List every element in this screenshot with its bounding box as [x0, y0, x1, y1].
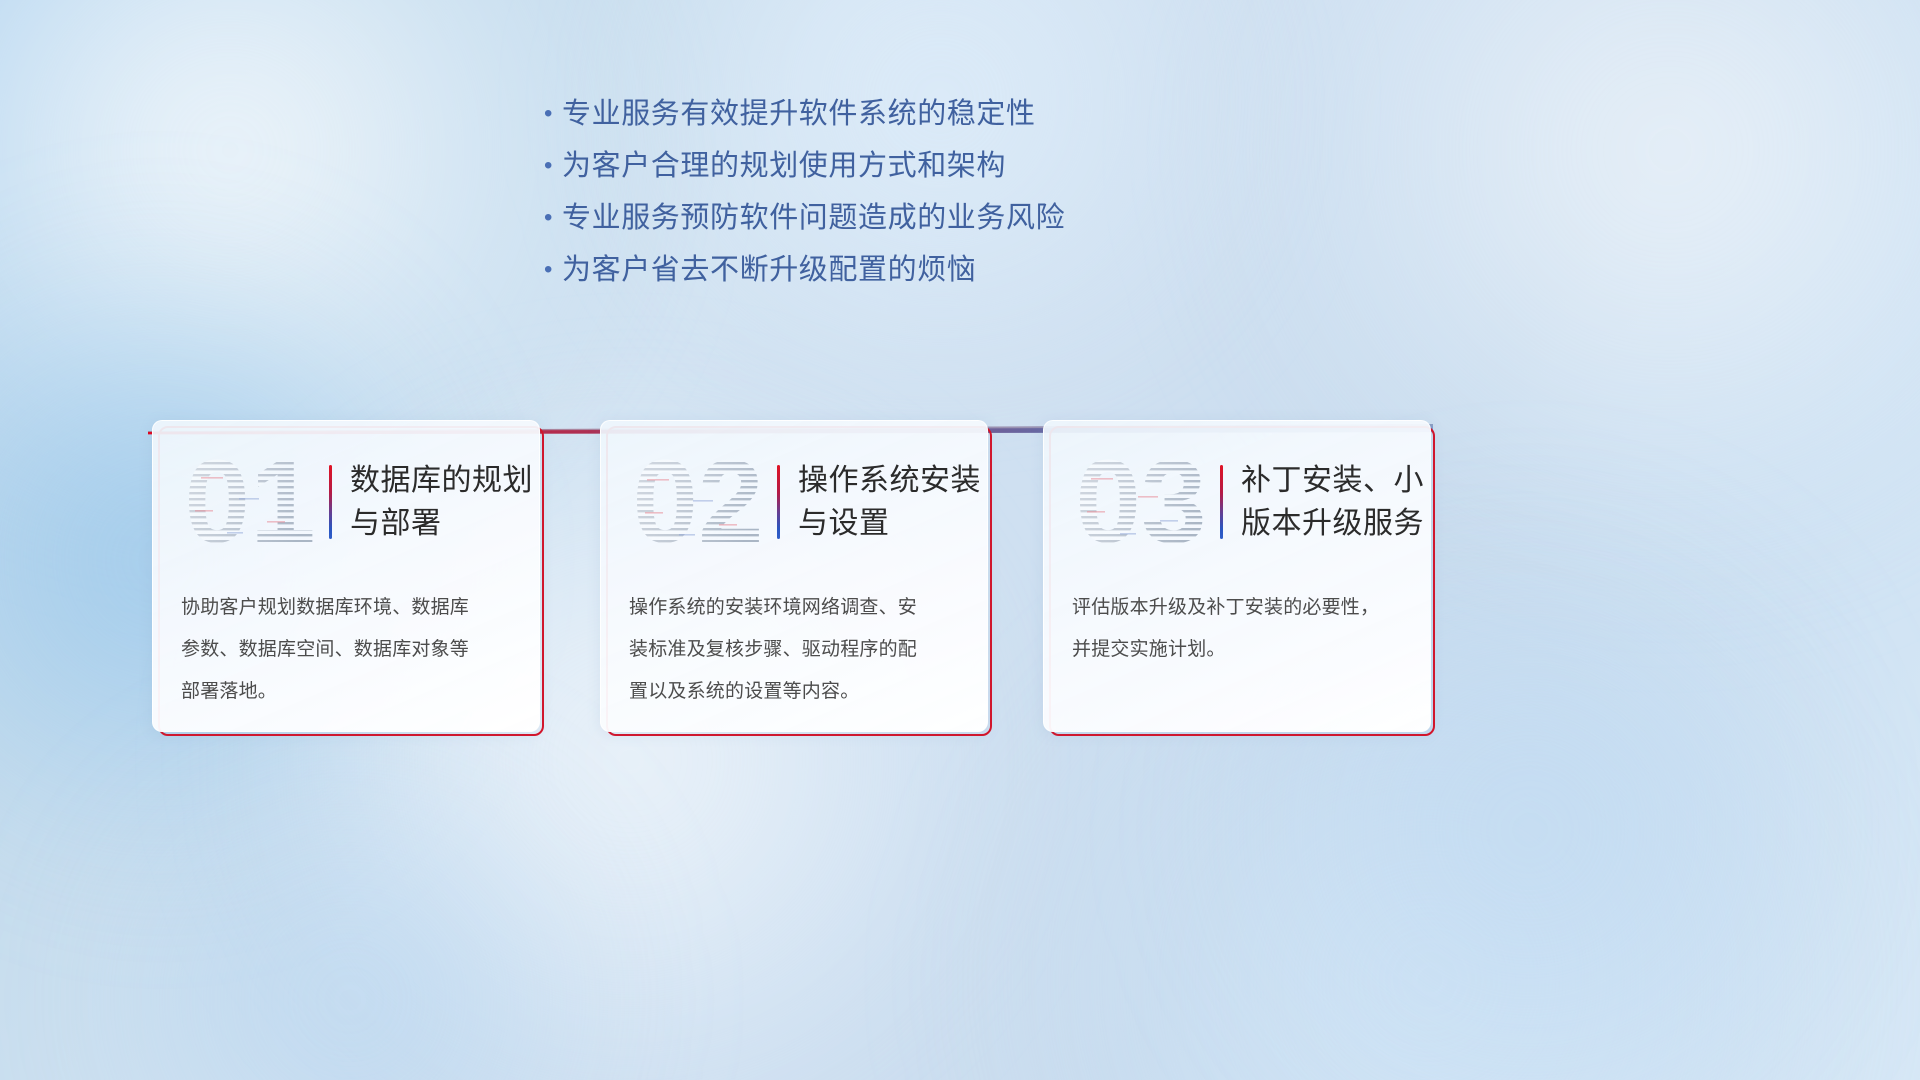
- service-cards: 01 01 数据库的规划 与部署: [0, 420, 1920, 760]
- bullet-marker-icon: •: [540, 88, 562, 140]
- card-face: 01 01 数据库的规划 与部署: [152, 420, 540, 732]
- card-title: 补丁安装、小 版本升级服务: [1241, 459, 1430, 545]
- card-number-striped-icon: 03 03: [1066, 450, 1216, 554]
- card-face: 03 03 补丁安装、小 版本升级服务: [1043, 420, 1431, 732]
- card-face: 02 02 操作系统安装 与设置: [600, 420, 988, 732]
- card-number-striped-icon: 01 01: [175, 450, 325, 554]
- bullet-text: 专业服务有效提升软件系统的稳定性: [562, 88, 1036, 140]
- svg-text:01: 01: [184, 450, 315, 554]
- card-title-divider: [329, 465, 332, 539]
- svg-text:02: 02: [632, 450, 763, 554]
- card-header: 03 03 补丁安装、小 版本升级服务: [1044, 443, 1430, 561]
- card-title-divider: [777, 465, 780, 539]
- list-item: • 专业服务预防软件问题造成的业务风险: [540, 192, 1360, 244]
- svg-text:03: 03: [1075, 450, 1206, 554]
- card-description: 操作系统的安装环境网络调查、安 装标准及复核步骤、驱动程序的配 置以及系统的设置…: [629, 587, 963, 713]
- list-item: • 为客户省去不断升级配置的烦恼: [540, 244, 1360, 296]
- card-header: 02 02 操作系统安装 与设置: [601, 443, 987, 561]
- service-card[interactable]: 03 03 补丁安装、小 版本升级服务: [1043, 420, 1435, 736]
- service-card[interactable]: 01 01 数据库的规划 与部署: [152, 420, 544, 736]
- striped-number-glyph: 02 02: [623, 450, 773, 554]
- list-item: • 专业服务有效提升软件系统的稳定性: [540, 88, 1360, 140]
- striped-number-glyph: 03 03: [1066, 450, 1216, 554]
- bullet-text: 为客户合理的规划使用方式和架构: [562, 140, 1006, 192]
- card-number-striped-icon: 02 02: [623, 450, 773, 554]
- bullet-text: 为客户省去不断升级配置的烦恼: [562, 244, 976, 296]
- card-title-divider: [1220, 465, 1223, 539]
- card-title: 数据库的规划 与部署: [350, 459, 539, 545]
- card-header: 01 01 数据库的规划 与部署: [153, 443, 539, 561]
- list-item: • 为客户合理的规划使用方式和架构: [540, 140, 1360, 192]
- card-description: 评估版本升级及补丁安装的必要性， 并提交实施计划。: [1072, 587, 1406, 671]
- bullet-text: 专业服务预防软件问题造成的业务风险: [562, 192, 1065, 244]
- striped-number-glyph: 01 01: [175, 450, 325, 554]
- bullet-marker-icon: •: [540, 140, 562, 192]
- bullet-marker-icon: •: [540, 244, 562, 296]
- benefits-bullet-list: • 专业服务有效提升软件系统的稳定性 • 为客户合理的规划使用方式和架构 • 专…: [540, 88, 1360, 296]
- service-card[interactable]: 02 02 操作系统安装 与设置: [600, 420, 992, 736]
- card-description: 协助客户规划数据库环境、数据库 参数、数据库空间、数据库对象等 部署落地。: [181, 587, 515, 713]
- bullet-marker-icon: •: [540, 192, 562, 244]
- card-title: 操作系统安装 与设置: [798, 459, 987, 545]
